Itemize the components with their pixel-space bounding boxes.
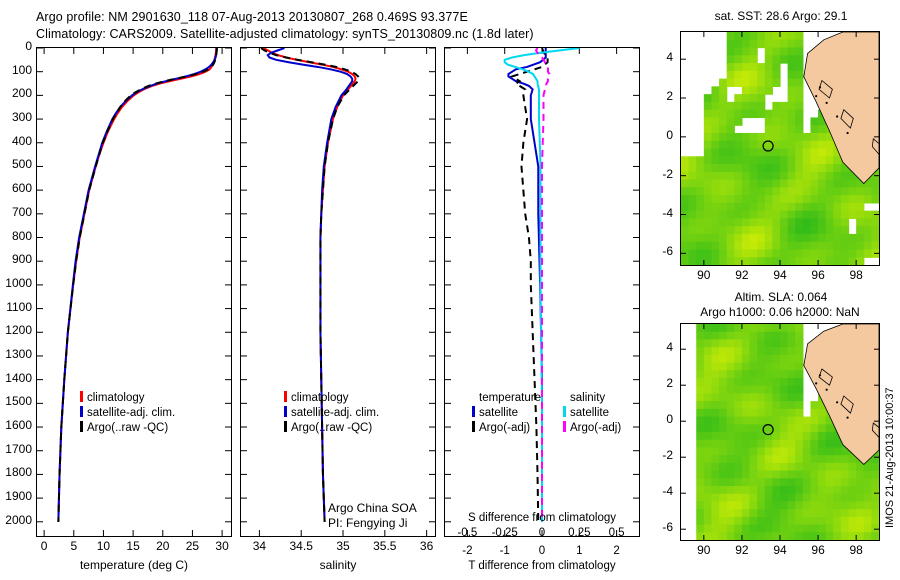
sla-map-ytick--6: -6 — [662, 520, 673, 534]
page-title-line2: Climatology: CARS2009. Satellite-adjuste… — [36, 27, 534, 41]
difference-profile-panel[interactable] — [444, 47, 640, 537]
legend-item-1: satellite-adj. clim. — [284, 406, 379, 421]
imos-credit: IMOS 21-Aug-2013 10:00:37 — [884, 387, 896, 528]
sla-map-panel[interactable] — [680, 323, 880, 541]
series-satellite-adj-clim- — [268, 48, 352, 522]
legend-item-1: satellite-adj. clim. — [80, 406, 175, 421]
legend-label: Argo(-adj) — [570, 422, 621, 434]
legend-swatch — [563, 406, 566, 417]
sst-map-header: sat. SST: 28.6 Argo: 29.1 — [672, 9, 890, 23]
argo-program-line2: PI: Fengying Ji — [328, 516, 407, 530]
sst-map-xtick-96: 96 — [811, 268, 824, 282]
sla-map-xtick-98: 98 — [850, 543, 863, 557]
temperature-tick-15: 15 — [126, 539, 139, 553]
sla-map-ytick-0: 0 — [666, 412, 673, 426]
legend-item-temperature-1: Argo(-adj) — [472, 421, 541, 436]
depth-tick-700: 700 — [12, 205, 32, 219]
sst-map-ytick--6: -6 — [662, 244, 673, 258]
sst-map-xtick-92: 92 — [735, 268, 748, 282]
sla-map-xtick-96: 96 — [811, 543, 824, 557]
salinity-axis-label: salinity — [240, 558, 436, 572]
legend-item-0: climatology — [80, 391, 175, 406]
sla-map-ytick-2: 2 — [666, 376, 673, 390]
temperature-legend: climatologysatellite-adj. clim.Argo(..ra… — [80, 391, 175, 436]
legend-label: satellite-adj. clim. — [291, 407, 379, 419]
depth-tick-1000: 1000 — [5, 276, 32, 290]
series-satellite-adj-clim- — [58, 48, 216, 522]
legend-swatch — [472, 406, 475, 417]
s-diff-tick-3: 0.25 — [568, 527, 590, 539]
t-diff-tick-4: 2 — [613, 545, 619, 557]
sla-map-ytick--4: -4 — [662, 484, 673, 498]
legend-swatch — [284, 421, 287, 432]
depth-tick-1500: 1500 — [5, 394, 32, 408]
sst-map-ytick--4: -4 — [662, 206, 673, 220]
legend-item-2: Argo(..raw -QC) — [284, 421, 379, 436]
sst-map-xtick-98: 98 — [850, 268, 863, 282]
legend-label: Argo(..raw -QC) — [291, 422, 372, 434]
legend-header-temperature: temperature — [472, 391, 541, 406]
depth-axis-ticklabels: 0100200300400500600700800900100011001200… — [0, 0, 36, 580]
sla-map-xtick-92: 92 — [735, 543, 748, 557]
salinity-xaxis-ticklabels: 3434.53535.536 — [240, 539, 436, 555]
temperature-tick-30: 30 — [215, 539, 228, 553]
t-diff-tick-0: -2 — [462, 545, 472, 557]
depth-tick-1900: 1900 — [5, 489, 32, 503]
depth-tick-300: 300 — [12, 110, 32, 124]
temperature-tick-5: 5 — [70, 539, 77, 553]
legend-item-2: Argo(..raw -QC) — [80, 421, 175, 436]
depth-tick-1800: 1800 — [5, 465, 32, 479]
temperature-axis-label: temperature (deg C) — [36, 558, 232, 572]
legend-swatch — [472, 421, 475, 432]
legend-swatch — [563, 421, 566, 432]
t-diff-tick-1: -1 — [500, 545, 510, 557]
legend-swatch — [284, 406, 287, 417]
depth-tick-800: 800 — [12, 229, 32, 243]
s-difference-ticklabels: -0.5-0.2500.250.5 — [444, 527, 640, 542]
sla-map-ytick--2: -2 — [662, 448, 673, 462]
depth-tick-400: 400 — [12, 134, 32, 148]
salinity-profile-panel[interactable] — [240, 47, 436, 537]
sst-map-panel[interactable] — [680, 31, 880, 266]
depth-tick-1300: 1300 — [5, 347, 32, 361]
depth-tick-100: 100 — [12, 63, 32, 77]
sla-map-ytick-4: 4 — [666, 340, 673, 354]
t-diff-tick-2: 0 — [539, 545, 545, 557]
sst-map-xaxis-ticklabels: 9092949698 — [680, 268, 880, 284]
series-argo-raw-qc- — [58, 48, 216, 522]
temperature-plot-svg — [37, 48, 231, 536]
depth-tick-1200: 1200 — [5, 323, 32, 337]
depth-tick-1400: 1400 — [5, 371, 32, 385]
legend-item-temperature-0: satellite — [472, 406, 541, 421]
legend-label: climatology — [291, 392, 349, 404]
series-climatology — [58, 48, 216, 522]
series-argo-raw-qc- — [261, 48, 359, 522]
sla-map-xtick-94: 94 — [773, 543, 786, 557]
depth-tick-0: 0 — [25, 39, 32, 53]
temperature-tick-10: 10 — [97, 539, 110, 553]
salinity-tick-0: 34 — [253, 539, 266, 553]
t-diff-tick-3: 1 — [576, 545, 582, 557]
sst-map-svg — [681, 32, 879, 265]
legend-swatch — [80, 391, 83, 402]
legend-label: climatology — [87, 392, 145, 404]
salinity-tick-4: 36 — [420, 539, 433, 553]
salinity-tick-1: 34.5 — [290, 539, 313, 553]
legend-label: satellite-adj. clim. — [87, 407, 175, 419]
temperature-tick-25: 25 — [186, 539, 199, 553]
legend-column-temperature: temperaturesatelliteArgo(-adj) — [472, 391, 541, 436]
difference-legend: temperaturesatelliteArgo(-adj)salinitysa… — [472, 391, 621, 436]
s-diff-tick-1: -0.25 — [492, 527, 518, 539]
sla-map-xaxis-ticklabels: 9092949698 — [680, 543, 880, 559]
temperature-tick-0: 0 — [41, 539, 48, 553]
argo-program-line1: Argo China SOA — [328, 501, 417, 515]
sst-map-ytick-4: 4 — [666, 50, 673, 64]
series-climatology — [264, 48, 356, 522]
salinity-plot-svg — [241, 48, 435, 536]
depth-tick-1600: 1600 — [5, 418, 32, 432]
s-diff-tick-2: 0 — [539, 527, 545, 539]
legend-swatch — [80, 406, 83, 417]
legend-label: Argo(..raw -QC) — [87, 422, 168, 434]
s-diff-tick-4: 0.5 — [609, 527, 625, 539]
depth-tick-200: 200 — [12, 86, 32, 100]
s-diff-tick-0: -0.5 — [457, 527, 477, 539]
sst-map-xtick-90: 90 — [697, 268, 710, 282]
depth-tick-600: 600 — [12, 181, 32, 195]
legend-item-salinity-0: satellite — [563, 406, 621, 421]
legend-label: satellite — [479, 407, 518, 419]
temperature-tick-20: 20 — [156, 539, 169, 553]
depth-tick-900: 900 — [12, 252, 32, 266]
sst-map-ytick-0: 0 — [666, 128, 673, 142]
temperature-profile-panel[interactable] — [36, 47, 232, 537]
legend-column-salinity: salinitysatelliteArgo(-adj) — [563, 391, 621, 436]
sst-map-xtick-94: 94 — [773, 268, 786, 282]
sla-map-xtick-90: 90 — [697, 543, 710, 557]
legend-label: satellite — [570, 407, 609, 419]
difference-plot-svg — [445, 48, 639, 536]
legend-header-salinity: salinity — [563, 391, 621, 406]
sst-map-ytick--2: -2 — [662, 167, 673, 181]
depth-tick-1700: 1700 — [5, 442, 32, 456]
page-title-line1: Argo profile: NM 2901630_118 07-Aug-2013… — [36, 10, 468, 24]
legend-swatch — [80, 421, 83, 432]
sst-map-ytick-2: 2 — [666, 89, 673, 103]
depth-tick-500: 500 — [12, 157, 32, 171]
salinity-tick-2: 35 — [336, 539, 349, 553]
legend-label: Argo(-adj) — [479, 422, 530, 434]
depth-tick-2000: 2000 — [5, 513, 32, 527]
temperature-xaxis-ticklabels: 051015202530 — [36, 539, 232, 555]
sla-map-yaxis-ticklabels: 420-2-4-6 — [648, 323, 678, 541]
imos-credit-wrapper: IMOS 21-Aug-2013 10:00:37 — [884, 528, 900, 540]
sst-map-yaxis-ticklabels: 420-2-4-6 — [648, 31, 678, 266]
legend-item-0: climatology — [284, 391, 379, 406]
t-difference-axis-label: T difference from climatology — [444, 560, 640, 572]
legend-item-salinity-1: Argo(-adj) — [563, 421, 621, 436]
sla-map-header-line1: Altim. SLA: 0.064 — [672, 290, 890, 304]
sla-map-svg — [681, 324, 879, 540]
salinity-tick-3: 35.5 — [373, 539, 396, 553]
sla-map-header-line2: Argo h1000: 0.06 h2000: NaN — [660, 305, 900, 319]
depth-tick-1100: 1100 — [6, 300, 32, 314]
legend-swatch — [284, 391, 287, 402]
salinity-legend: climatologysatellite-adj. clim.Argo(..ra… — [284, 391, 379, 436]
t-difference-ticklabels: -2-1012 — [444, 545, 640, 560]
s-difference-axis-label: S difference from climatology — [444, 512, 640, 524]
